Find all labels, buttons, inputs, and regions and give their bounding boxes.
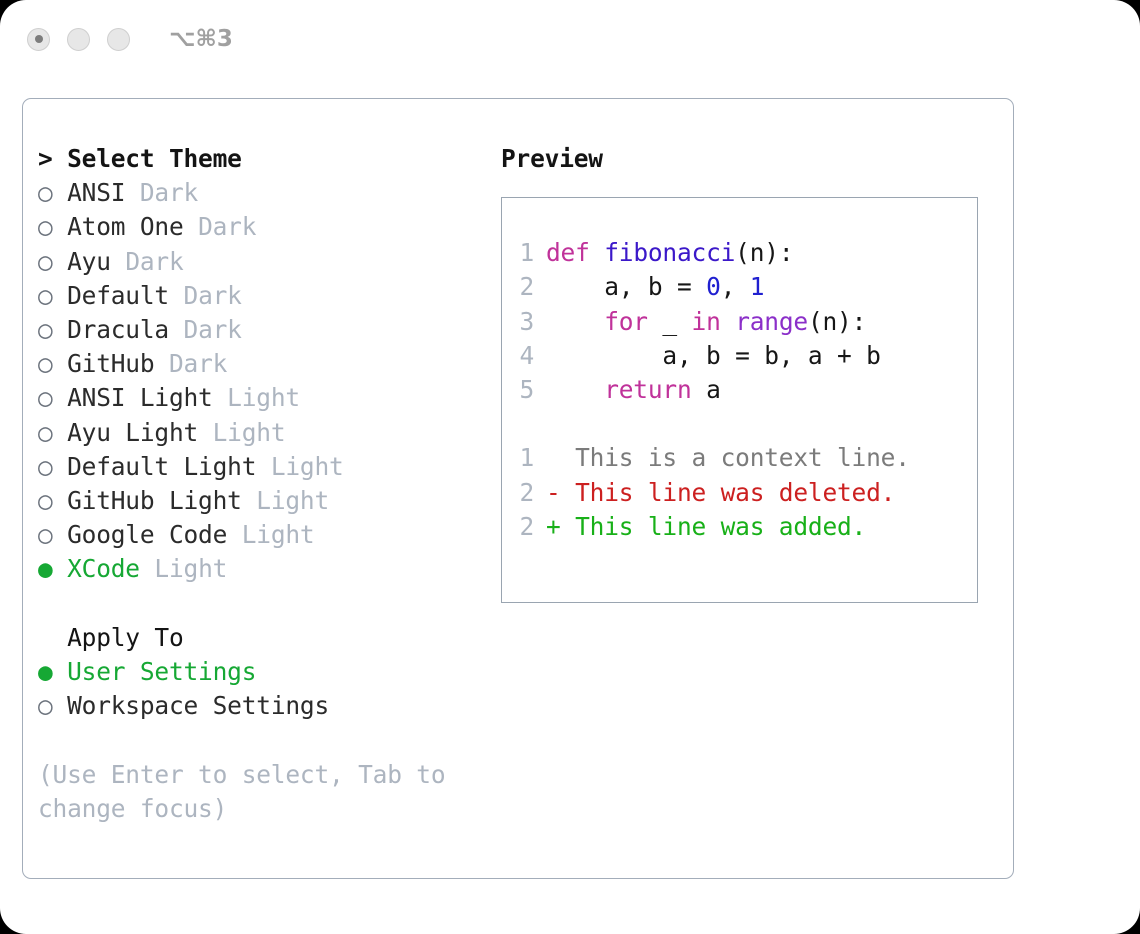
code-token: (n): [808,307,866,336]
diff-line-text: + This line was added. [546,512,866,541]
code-token: a, b = b, a + b [546,341,881,370]
line-number: 1 [517,441,534,475]
diff-line: 2+ This line was added. [502,510,977,544]
theme-option-google-code[interactable]: ○ Google Code Light [38,518,498,552]
code-token: a, b = [546,272,706,301]
theme-option-label: Ayu Light [67,418,198,447]
line-number: 1 [517,236,534,270]
radio-unselected-icon: ○ [38,247,67,276]
theme-option-github-light[interactable]: ○ GitHub Light Light [38,484,498,518]
code-preview-box: 1def fibonacci(n):2 a, b = 0, 13 for _ i… [501,197,978,603]
diff-line-text: This is a context line. [546,443,910,472]
theme-option-label: Ayu [67,247,111,276]
code-token: in [692,307,721,336]
theme-option-xcode[interactable]: ● XCode Light [38,552,498,586]
radio-selected-icon: ● [38,554,67,583]
radio-unselected-icon: ○ [38,520,67,549]
line-number: 2 [517,270,534,304]
hint-spacer [38,723,498,757]
diff-sample: 1 This is a context line.2- This line wa… [502,441,977,544]
line-number: 3 [517,305,534,339]
code-token: def [546,238,590,267]
panel-columns: > Select Theme ○ ANSI Dark○ Atom One Dar… [23,99,1013,878]
radio-unselected-icon: ○ [38,349,67,378]
line-number: 4 [517,339,534,373]
theme-option-label: Default [67,281,169,310]
theme-option-label: Dracula [67,315,169,344]
code-token: ( [735,238,750,267]
theme-selection-column: > Select Theme ○ ANSI Dark○ Atom One Dar… [38,142,498,826]
keyboard-shortcut-label: ⌥⌘3 [169,26,233,52]
code-token: range [735,307,808,336]
code-token [590,238,605,267]
code-token: return [604,375,691,404]
diff-line-text: - This line was deleted. [546,478,895,507]
code-token [546,375,604,404]
code-line: 2 a, b = 0, 1 [502,270,977,304]
line-number: 5 [517,373,534,407]
diff-line: 1 This is a context line. [502,441,977,475]
code-sample: 1def fibonacci(n):2 a, b = 0, 13 for _ i… [502,236,977,407]
radio-unselected-icon: ○ [38,383,67,412]
code-token: 1 [750,272,765,301]
theme-option-atom-one[interactable]: ○ Atom One Dark [38,210,498,244]
radio-unselected-icon: ○ [38,315,67,344]
code-token: fibonacci [604,238,735,267]
select-theme-title: Select Theme [67,144,242,173]
code-token: ): [764,238,793,267]
radio-unselected-icon: ○ [38,281,67,310]
apply-to-heading: Apply To [38,621,498,655]
theme-option-kind: Light [227,520,314,549]
code-token [546,307,604,336]
radio-selected-icon: ● [38,657,67,686]
preview-column: Preview 1def fibonacci(n):2 a, b = 0, 13… [501,142,1001,603]
radio-unselected-icon: ○ [38,178,67,207]
theme-option-default-light[interactable]: ○ Default Light Light [38,450,498,484]
radio-unselected-icon: ○ [38,486,67,515]
apply-option-user-settings[interactable]: ● User Settings [38,655,498,689]
radio-unselected-icon: ○ [38,452,67,481]
code-line: 4 a, b = b, a + b [502,339,977,373]
select-theme-heading: > Select Theme [38,142,498,176]
theme-option-kind: Light [140,554,227,583]
theme-option-ansi[interactable]: ○ ANSI Dark [38,176,498,210]
theme-option-kind: Dark [169,315,242,344]
code-token: for [604,307,648,336]
code-line: 5 return a [502,373,977,407]
code-line: 1def fibonacci(n): [502,236,977,270]
radio-unselected-icon: ○ [38,418,67,447]
preview-heading: Preview [501,142,1001,176]
code-token: a [692,375,721,404]
radio-unselected-icon: ○ [38,691,67,720]
theme-option-label: XCode [67,554,140,583]
theme-option-kind: Dark [125,178,198,207]
theme-option-kind: Light [256,452,343,481]
code-diff-separator [502,407,977,441]
traffic-light-maximize[interactable] [107,28,130,51]
code-token [721,307,736,336]
theme-option-default[interactable]: ○ Default Dark [38,279,498,313]
active-indicator-dot [35,35,43,43]
radio-unselected-icon: ○ [38,212,67,241]
list-spacer [38,587,498,621]
apply-option-label: Workspace Settings [67,691,329,720]
theme-option-ayu[interactable]: ○ Ayu Dark [38,245,498,279]
theme-option-github[interactable]: ○ GitHub Dark [38,347,498,381]
code-token: _ [648,307,692,336]
code-line: 3 for _ in range(n): [502,305,977,339]
theme-option-label: Google Code [67,520,227,549]
title-bar: ⌥⌘3 [0,0,1140,78]
apply-option-label: User Settings [67,657,256,686]
apply-to-list: ● User Settings○ Workspace Settings [38,655,498,723]
traffic-light-minimize[interactable] [67,28,90,51]
theme-option-label: GitHub [67,349,154,378]
code-token: 0 [706,272,721,301]
prompt-caret: > [38,144,67,173]
theme-option-dracula[interactable]: ○ Dracula Dark [38,313,498,347]
line-number: 2 [517,476,534,510]
code-token: n [750,238,765,267]
main-panel: > Select Theme ○ ANSI Dark○ Atom One Dar… [22,98,1014,879]
theme-option-label: Atom One [67,212,183,241]
theme-option-kind: Dark [169,281,242,310]
theme-option-label: GitHub Light [67,486,242,515]
theme-option-label: Default Light [67,452,256,481]
theme-option-label: ANSI Light [67,383,213,412]
apply-option-workspace-settings[interactable]: ○ Workspace Settings [38,689,498,723]
theme-option-kind: Dark [154,349,227,378]
theme-option-ayu-light[interactable]: ○ Ayu Light Light [38,416,498,450]
theme-option-label: ANSI [67,178,125,207]
app-window: ⌥⌘3 > Select Theme ○ ANSI Dark○ Atom One… [0,0,1140,934]
theme-option-kind: Dark [111,247,184,276]
theme-option-kind: Light [213,383,300,412]
line-number: 2 [517,510,534,544]
theme-option-kind: Dark [184,212,257,241]
theme-option-kind: Light [198,418,285,447]
theme-option-ansi-light[interactable]: ○ ANSI Light Light [38,381,498,415]
theme-option-kind: Light [242,486,329,515]
diff-line: 2- This line was deleted. [502,476,977,510]
code-token: , [721,272,750,301]
keyboard-hint-text: (Use Enter to select, Tab to change focu… [38,758,458,826]
theme-list: ○ ANSI Dark○ Atom One Dark○ Ayu Dark○ De… [38,176,498,586]
traffic-light-close[interactable] [27,28,50,51]
